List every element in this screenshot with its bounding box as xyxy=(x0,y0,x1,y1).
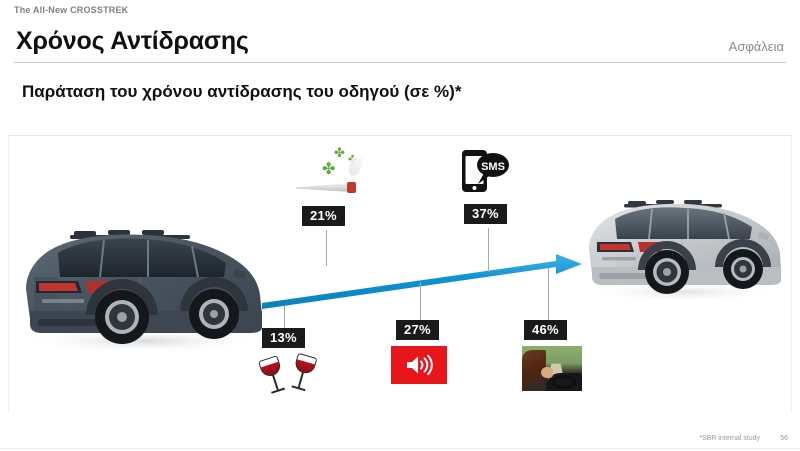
header-divider xyxy=(14,62,786,63)
sms-phone-icon: SMS xyxy=(460,148,510,196)
wine-glass-right xyxy=(287,353,320,399)
page-title: Χρόνος Αντίδρασης xyxy=(16,27,249,56)
callout-driver-phone[interactable]: 46% xyxy=(524,268,584,313)
driver-phone-photo xyxy=(522,346,582,391)
wine-glasses-icon xyxy=(262,354,322,399)
eyebrow-label: The All-New CROSSTREK xyxy=(14,5,128,15)
badge-cannabis-percent: 21% xyxy=(302,206,345,226)
connector-stem-driver-phone xyxy=(548,268,549,320)
connector-stem-sms xyxy=(488,228,489,272)
connector-stem-cannabis xyxy=(326,230,327,266)
footnote: *SBR internal study xyxy=(699,435,760,442)
callout-cannabis[interactable]: ✤ ✤ ✤ 21% xyxy=(288,146,362,202)
joint-ember xyxy=(347,182,356,193)
connector-stem-alcohol xyxy=(284,306,285,328)
cannabis-leaf-icon: ✤ xyxy=(334,146,345,159)
subtitle: Παράταση του χρόνου αντίδρασης του οδηγο… xyxy=(22,82,461,102)
wine-glass-left xyxy=(258,355,292,402)
section-label: Ασφάλεια xyxy=(729,39,784,54)
joint-body xyxy=(296,183,352,192)
badge-alcohol-percent: 13% xyxy=(262,328,305,348)
slide: The All-New CROSSTREK Χρόνος Αντίδρασης … xyxy=(0,0,800,451)
badge-sms-percent: 37% xyxy=(464,204,507,224)
cannabis-joint-icon: ✤ ✤ ✤ xyxy=(294,146,368,202)
footer-divider xyxy=(0,448,800,449)
cannabis-leaf-icon: ✤ xyxy=(322,162,335,178)
badge-driver-phone-percent: 46% xyxy=(524,320,567,340)
callout-alcohol[interactable]: 13% xyxy=(262,306,322,351)
connector-stem-music xyxy=(420,282,421,320)
badge-music-percent: 27% xyxy=(396,320,439,340)
car-right-crosstrek-silver xyxy=(578,188,790,304)
car-left-crosstrek-dark xyxy=(12,215,274,355)
speaker-volume-icon xyxy=(391,346,447,384)
page-number: 56 xyxy=(780,435,788,442)
sms-badge-text: SMS xyxy=(481,161,505,173)
